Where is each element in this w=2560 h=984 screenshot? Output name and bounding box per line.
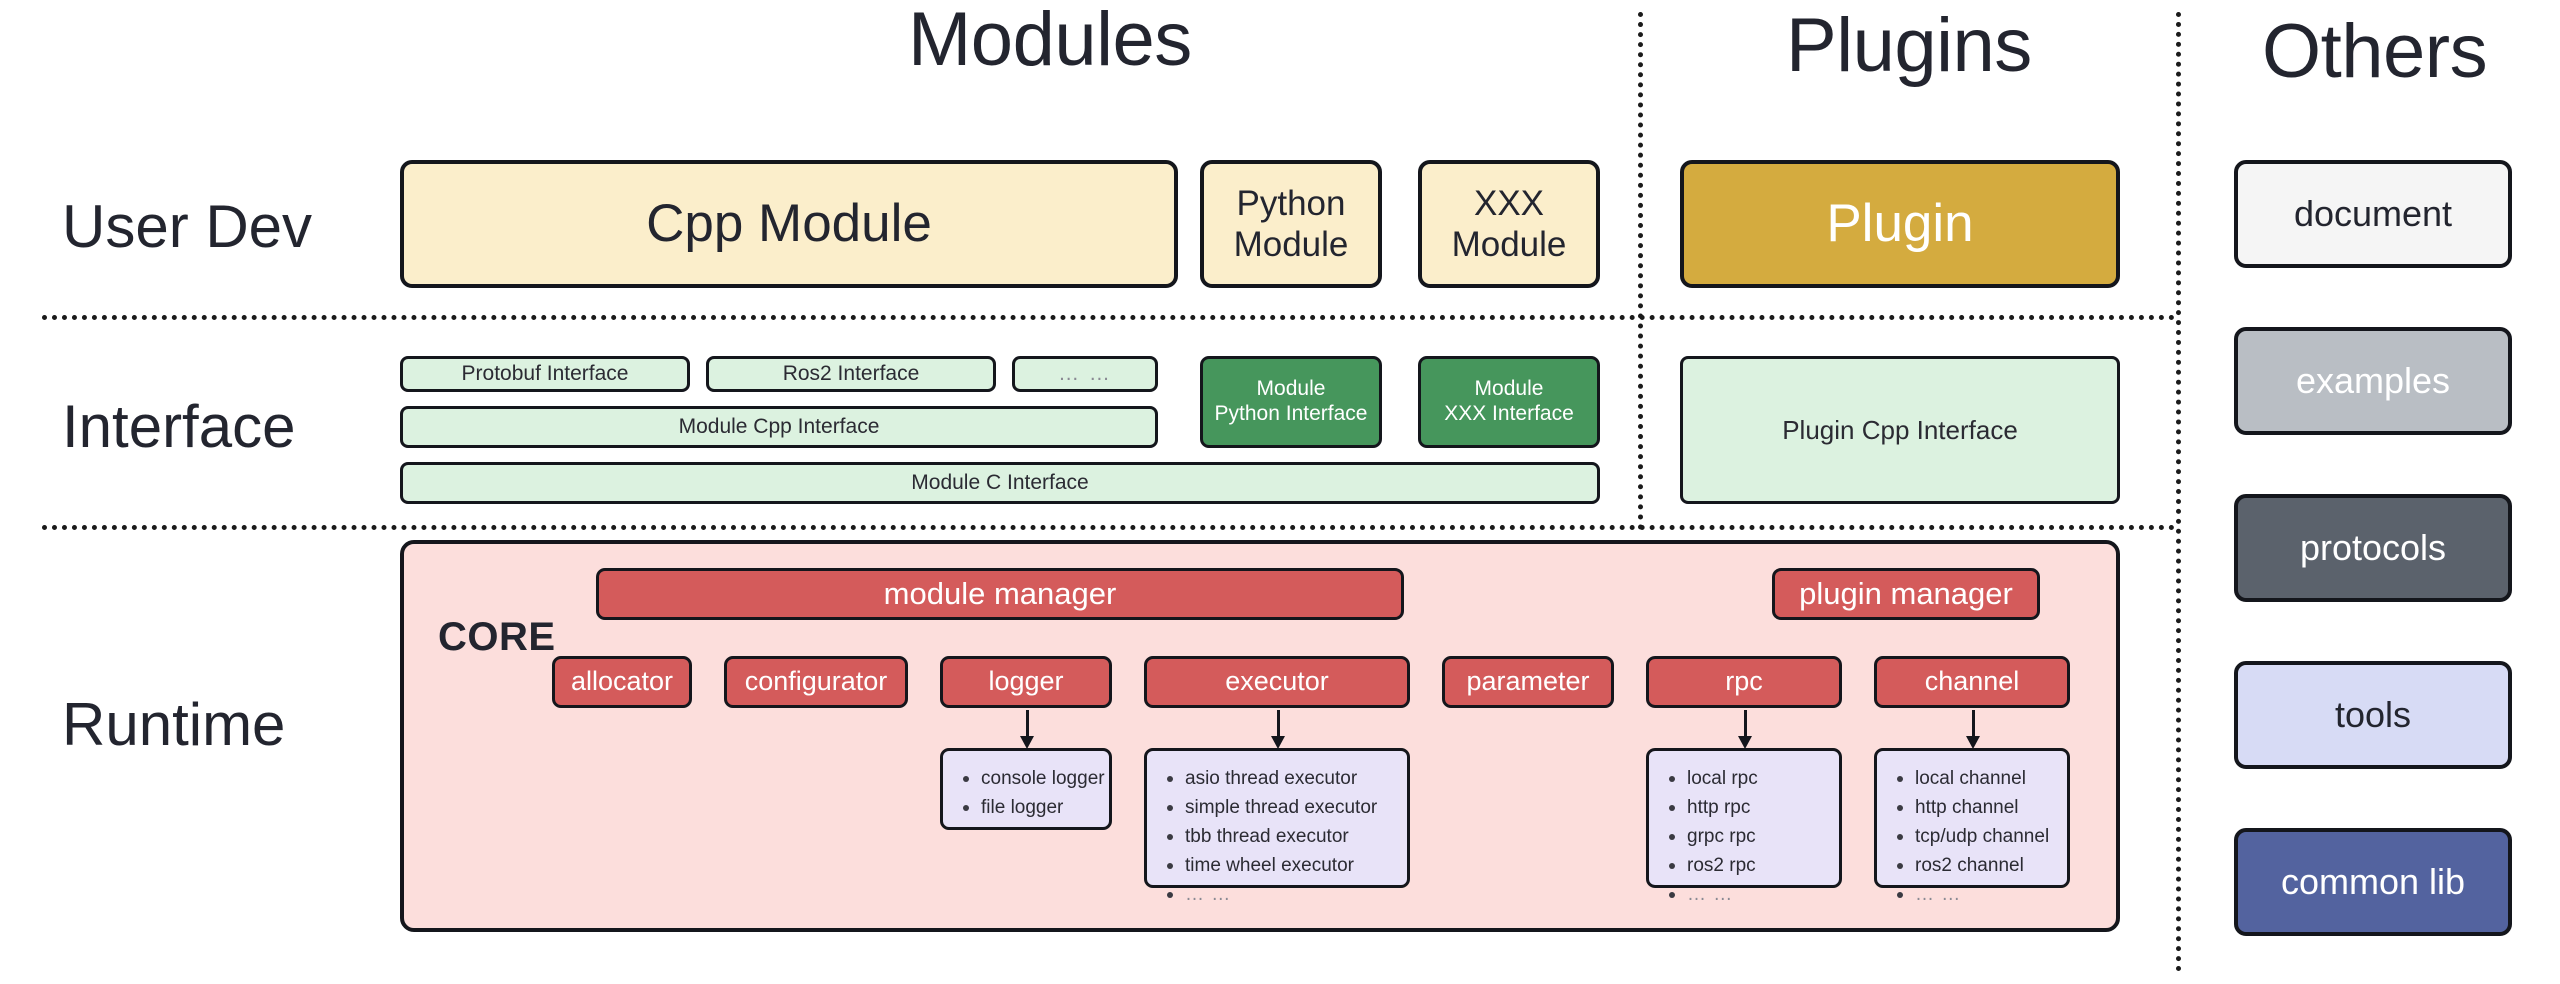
- list-item: http channel: [1893, 794, 2057, 823]
- executor-box[interactable]: executor: [1144, 656, 1410, 708]
- channel-details-box: local channel http channel tcp/udp chann…: [1874, 748, 2070, 888]
- list-item: asio thread executor: [1163, 765, 1397, 794]
- plugin-cpp-interface-box[interactable]: Plugin Cpp Interface: [1680, 356, 2120, 504]
- rpc-details-box: local rpc http rpc grpc rpc ros2 rpc … …: [1646, 748, 1842, 888]
- xxx-module-box[interactable]: XXX Module: [1418, 160, 1600, 288]
- module-xxx-interface-box[interactable]: Module XXX Interface: [1418, 356, 1600, 448]
- list-item: ros2 rpc: [1665, 852, 1829, 881]
- column-header-others: Others: [2262, 8, 2487, 95]
- others-item-protocols[interactable]: protocols: [2234, 494, 2512, 602]
- divider-interface-runtime: [42, 525, 2176, 530]
- list-item: simple thread executor: [1163, 794, 1397, 823]
- module-manager-box[interactable]: module manager: [596, 568, 1404, 620]
- list-item: grpc rpc: [1665, 823, 1829, 852]
- plugin-box[interactable]: Plugin: [1680, 160, 2120, 288]
- plugin-manager-box[interactable]: plugin manager: [1772, 568, 2040, 620]
- logger-details-box: console logger file logger: [940, 748, 1112, 830]
- others-item-examples[interactable]: examples: [2234, 327, 2512, 435]
- others-item-tools[interactable]: tools: [2234, 661, 2512, 769]
- list-item: … …: [1665, 881, 1829, 910]
- parameter-box[interactable]: parameter: [1442, 656, 1614, 708]
- row-label-interface: Interface: [62, 392, 295, 461]
- list-item: tcp/udp channel: [1893, 823, 2057, 852]
- column-header-modules: Modules: [908, 0, 1192, 83]
- list-item: local channel: [1893, 765, 2057, 794]
- executor-details-box: asio thread executor simple thread execu…: [1144, 748, 1410, 888]
- configurator-box[interactable]: configurator: [724, 656, 908, 708]
- module-c-interface-box[interactable]: Module C Interface: [400, 462, 1600, 504]
- python-module-box[interactable]: Python Module: [1200, 160, 1382, 288]
- row-label-user-dev: User Dev: [62, 192, 312, 261]
- rpc-box[interactable]: rpc: [1646, 656, 1842, 708]
- list-item: … …: [1163, 881, 1397, 910]
- list-item: … …: [1893, 881, 2057, 910]
- logger-box[interactable]: logger: [940, 656, 1112, 708]
- list-item: ros2 channel: [1893, 852, 2057, 881]
- core-label: CORE: [438, 615, 556, 660]
- list-item: tbb thread executor: [1163, 823, 1397, 852]
- module-cpp-interface-box[interactable]: Module Cpp Interface: [400, 406, 1158, 448]
- others-item-common-lib[interactable]: common lib: [2234, 828, 2512, 936]
- architecture-diagram: Modules Plugins Others User Dev Interfac…: [0, 0, 2560, 984]
- ros2-interface-box[interactable]: Ros2 Interface: [706, 356, 996, 392]
- allocator-box[interactable]: allocator: [552, 656, 692, 708]
- protobuf-interface-box[interactable]: Protobuf Interface: [400, 356, 690, 392]
- channel-box[interactable]: channel: [1874, 656, 2070, 708]
- list-item: console logger: [959, 765, 1099, 794]
- row-label-runtime: Runtime: [62, 690, 285, 759]
- list-item: http rpc: [1665, 794, 1829, 823]
- cpp-module-box[interactable]: Cpp Module: [400, 160, 1178, 288]
- more-interface-box[interactable]: … …: [1012, 356, 1158, 392]
- list-item: time wheel executor: [1163, 852, 1397, 881]
- divider-modules-plugins: [1638, 12, 1643, 530]
- list-item: local rpc: [1665, 765, 1829, 794]
- module-python-interface-box[interactable]: Module Python Interface: [1200, 356, 1382, 448]
- divider-user-dev-interface: [42, 315, 2176, 320]
- column-header-plugins: Plugins: [1786, 2, 2032, 89]
- others-item-document[interactable]: document: [2234, 160, 2512, 268]
- list-item: file logger: [959, 794, 1099, 823]
- divider-plugins-others: [2176, 12, 2181, 972]
